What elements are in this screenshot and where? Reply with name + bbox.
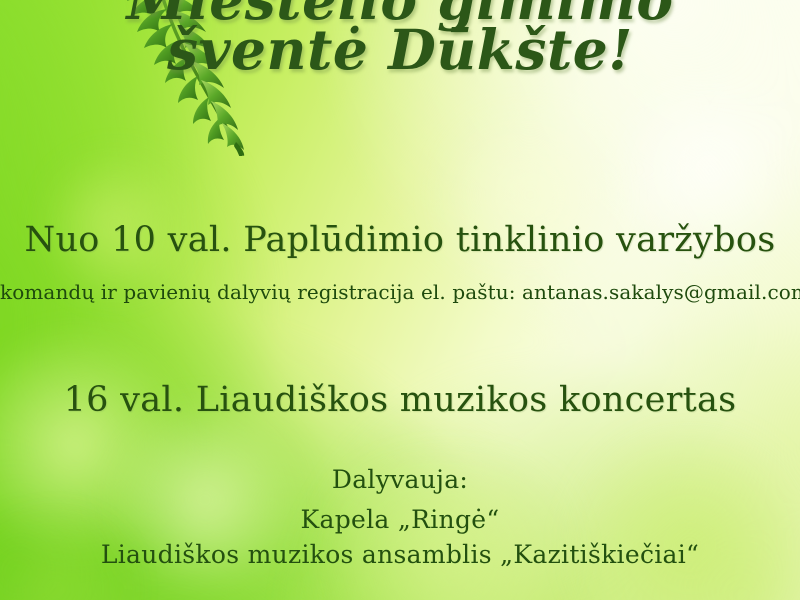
poster-text-content: Miestelio gimimo šventė Dūkšte! Nuo 10 v…: [0, 0, 800, 600]
poster-title-line-2: šventė Dūkšte!: [0, 15, 800, 85]
event-heading-volleyball: Nuo 10 val. Paplūdimio tinklinio varžybo…: [0, 218, 800, 262]
event-heading-concert: 16 val. Liaudiškos muzikos koncertas: [0, 378, 800, 422]
performer-item: Kapela „Ringė“: [0, 503, 800, 537]
performer-item: Liaudiškos muzikos ansamblis „Kazitiškie…: [0, 538, 800, 572]
event-poster: Miestelio gimimo šventė Dūkšte! Nuo 10 v…: [0, 0, 800, 600]
performers-label: Dalyvauja:: [0, 463, 800, 497]
event-registration-note: komandų ir pavienių dalyvių registracija…: [0, 278, 800, 306]
